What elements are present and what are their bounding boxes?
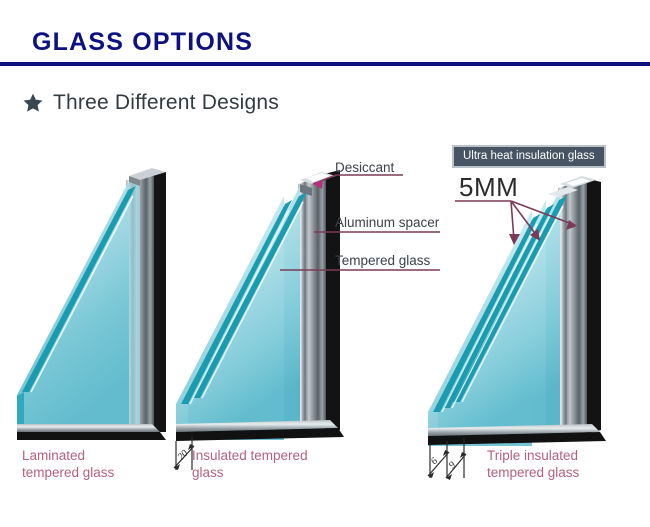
callout-desiccant: Desiccant bbox=[335, 160, 394, 175]
callout-tempered-glass: Tempered glass bbox=[335, 253, 430, 268]
caption-triple-line1: Triple insulated bbox=[487, 447, 579, 464]
badge-ultra-heat-insulation: Ultra heat insulation glass bbox=[452, 145, 606, 168]
dimension-5mm-label: 5MM bbox=[459, 172, 518, 203]
caption-triple-line2: tempered glass bbox=[487, 464, 579, 481]
panel-insulated bbox=[174, 170, 344, 470]
caption-laminated-line2: tempered glass bbox=[22, 464, 114, 481]
caption-insulated: Insulated tempered glass bbox=[192, 447, 308, 481]
caption-laminated: Laminated tempered glass bbox=[22, 447, 114, 481]
caption-laminated-line1: Laminated bbox=[22, 447, 114, 464]
panel-laminated bbox=[17, 168, 166, 440]
glass-options-infographic: GLASS OPTIONS Three Different Designs bbox=[0, 0, 650, 527]
callout-aluminum-spacer: Aluminum spacer bbox=[335, 215, 439, 230]
panel-triple bbox=[428, 176, 606, 480]
caption-triple: Triple insulated tempered glass bbox=[487, 447, 579, 481]
caption-insulated-line1: Insulated tempered bbox=[192, 447, 308, 464]
caption-insulated-line2: glass bbox=[192, 464, 308, 481]
